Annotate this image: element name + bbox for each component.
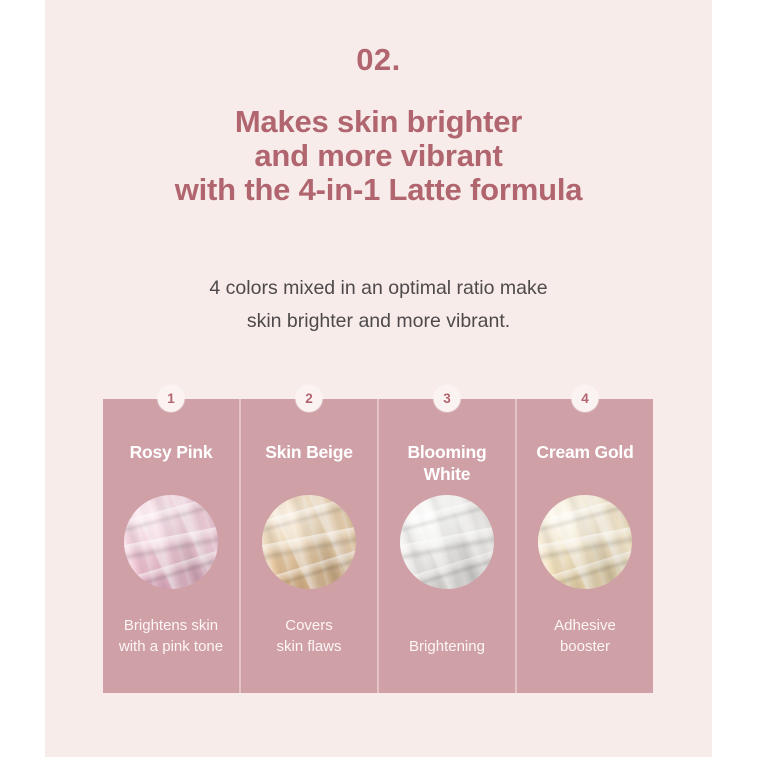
color-card-skin-beige: 2 Skin Beige Covers [239,399,377,693]
gloss-highlight [538,495,632,589]
card-title-blooming-white: Blooming White [407,441,486,485]
page-subheadline: 4 colors mixed in an optimal ratio make … [45,272,712,338]
rosy-pink-swatch-wrap [124,495,218,589]
card-description-skin-beige: Covers skin flaws [247,615,371,657]
card-title-cream-gold: Cream Gold [536,441,633,463]
card-badge-1: 1 [158,385,185,412]
promo-graphic-canvas: 02. Makes skin brighter and more vibrant… [0,0,757,757]
card-desc-line-1: Covers [247,615,371,636]
card-badge-4: 4 [572,385,599,412]
card-title-line: Blooming [407,442,486,462]
subheadline-line-1: 4 colors mixed in an optimal ratio make [45,272,712,305]
color-component-grid: 1 Rosy Pink Brightens [103,399,653,693]
card-title-rosy-pink: Rosy Pink [130,441,213,463]
headline-line-3: with the 4-in-1 Latte formula [45,173,712,207]
headline-line-1: Makes skin brighter [45,105,712,139]
card-title-line: Skin Beige [265,442,352,462]
step-number: 02. [45,42,712,78]
card-desc-line-1: Brightens skin [109,615,233,636]
card-title-line: Cream Gold [536,442,633,462]
blooming-white-cream-swatch [400,495,494,589]
skin-beige-cream-swatch [262,495,356,589]
card-badge-3: 3 [434,385,461,412]
gloss-highlight [400,495,494,589]
card-title-line: Rosy Pink [130,442,213,462]
cream-gold-swatch-wrap [538,495,632,589]
card-desc-line-2: skin flaws [247,636,371,657]
page-headline: Makes skin brighter and more vibrant wit… [45,105,712,207]
card-badge-2: 2 [296,385,323,412]
card-desc-line-1: Brightening [385,636,509,657]
blooming-white-swatch-wrap [400,495,494,589]
color-card-rosy-pink: 1 Rosy Pink Brightens [103,399,239,693]
color-card-cream-gold: 4 Cream Gold Adhesive [515,399,653,693]
card-desc-line-2: with a pink tone [109,636,233,657]
card-title-skin-beige: Skin Beige [265,441,352,463]
rosy-pink-cream-swatch [124,495,218,589]
card-description-cream-gold: Adhesive booster [523,615,647,657]
color-card-blooming-white: 3 Blooming White [377,399,515,693]
gloss-highlight [262,495,356,589]
card-desc-line-2: booster [523,636,647,657]
subheadline-line-2: skin brighter and more vibrant. [45,305,712,338]
headline-line-2: and more vibrant [45,139,712,173]
promo-page-panel: 02. Makes skin brighter and more vibrant… [45,0,712,757]
skin-beige-swatch-wrap [262,495,356,589]
card-description-blooming-white: Brightening [385,636,509,657]
card-title-line: White [424,464,471,484]
card-desc-line-1: Adhesive [523,615,647,636]
gloss-highlight [124,495,218,589]
cream-gold-cream-swatch [538,495,632,589]
card-description-rosy-pink: Brightens skin with a pink tone [109,615,233,657]
